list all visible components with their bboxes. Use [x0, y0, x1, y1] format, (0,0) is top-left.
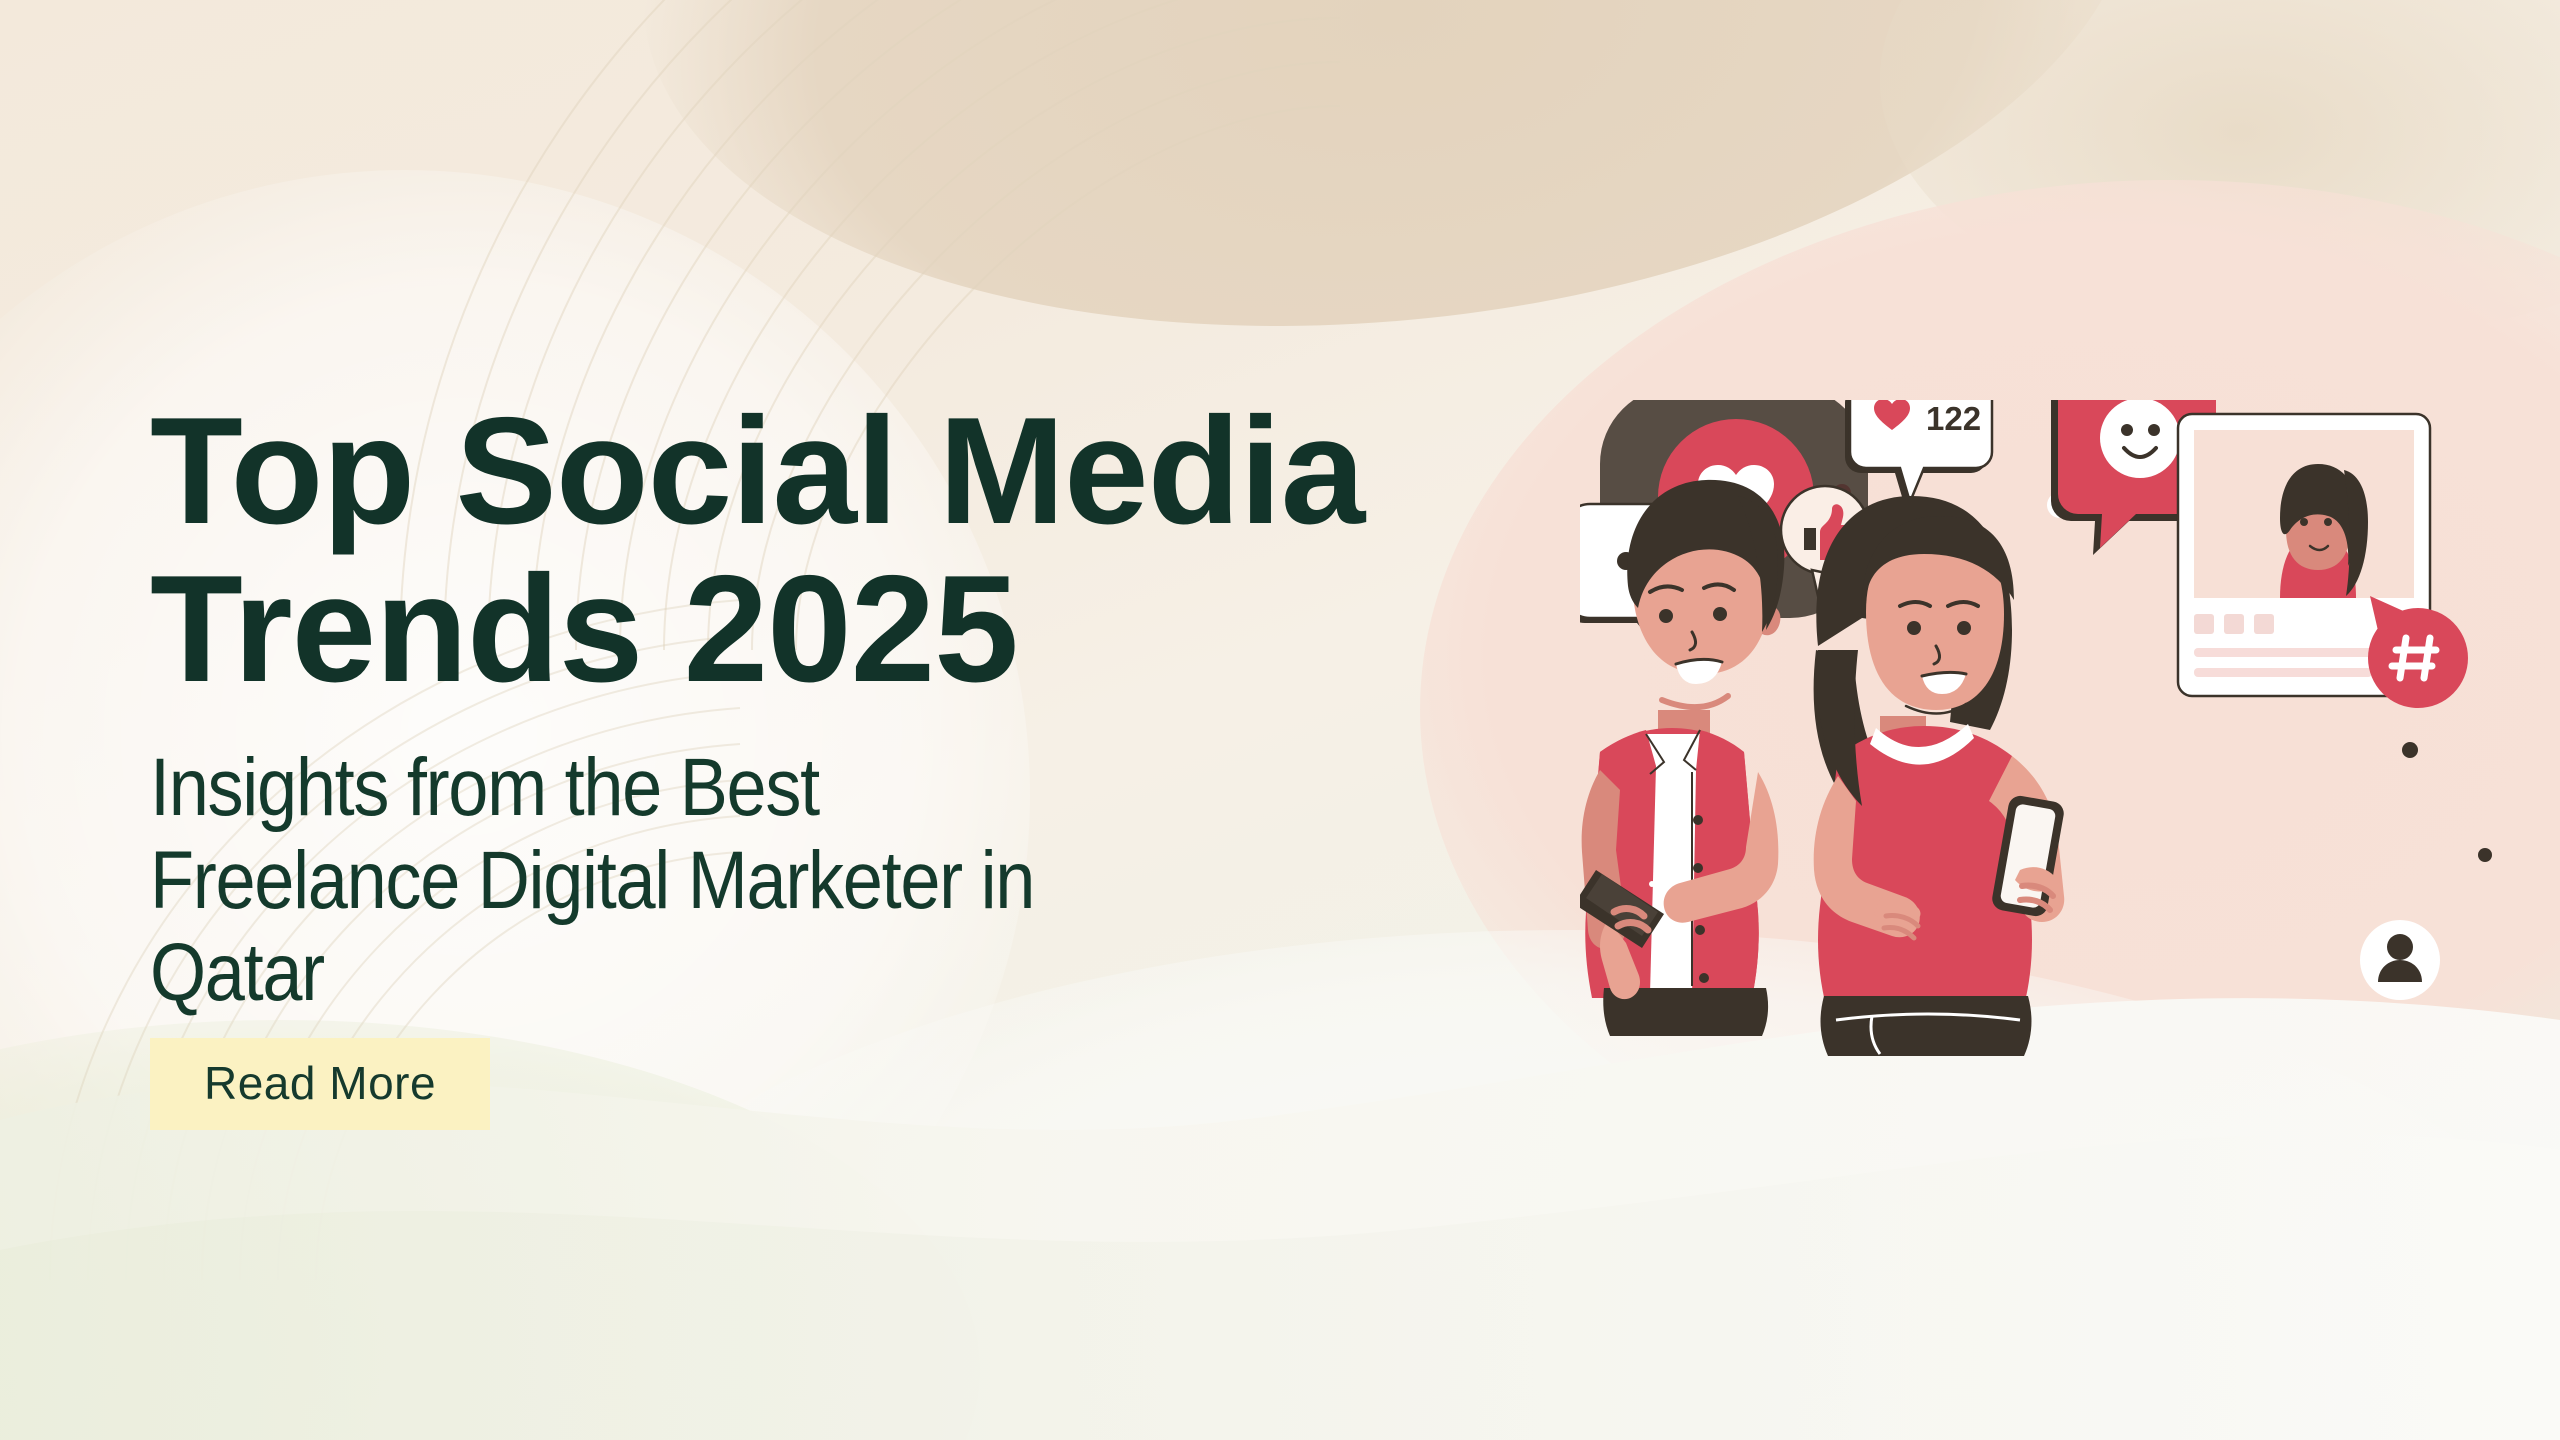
character-woman [1814, 496, 2066, 1056]
hashtag-bubble-icon [2368, 596, 2468, 708]
read-more-button[interactable]: Read More [150, 1038, 490, 1130]
social-media-illustration: 122 [1580, 400, 2560, 1160]
background-blob-top-right [1880, 0, 2560, 340]
hero-copy: Top Social Media Trends 2025 Insights fr… [150, 392, 1570, 1130]
page-title: Top Social Media Trends 2025 [150, 392, 1570, 708]
hero-banner: Top Social Media Trends 2025 Insights fr… [0, 0, 2560, 1440]
post-photo-person [2280, 464, 2368, 598]
person-badge-icon [2360, 920, 2440, 1000]
decor-dot-dark-3 [2402, 742, 2418, 758]
background-blob-top [604, 0, 2175, 396]
decor-dot-dark-4 [2478, 848, 2492, 862]
page-subtitle: Insights from the Best Freelance Digital… [150, 742, 1400, 1020]
like-count-label: 122 [1926, 400, 1981, 437]
